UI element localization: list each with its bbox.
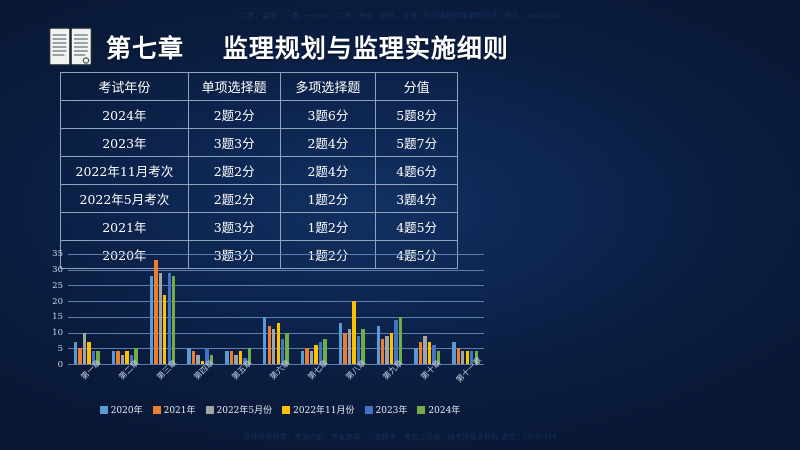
legend-item[interactable]: 2024年 xyxy=(417,403,460,416)
x-axis-tick: 第五章 xyxy=(219,366,257,400)
bar xyxy=(339,323,342,364)
x-axis-tick: 第十章 xyxy=(408,366,446,400)
bar xyxy=(168,273,171,364)
y-axis-tick-label: 25 xyxy=(52,281,63,291)
watermark-top: 二建、监理、一造、一level、二造、安全、消防、咨询、检测课程持续更新知识，微… xyxy=(0,11,800,21)
table-cell: 5题7分 xyxy=(376,129,458,157)
table-cell: 4题5分 xyxy=(376,213,458,241)
bar xyxy=(192,351,195,364)
legend-label: 2020年 xyxy=(111,403,143,416)
bar xyxy=(263,317,266,364)
table-cell: 1题2分 xyxy=(280,213,376,241)
y-axis-tick-label: 30 xyxy=(52,265,63,275)
chart-legend: 2020年2021年2022年5月份2022年11月份2023年2024年 xyxy=(60,403,500,416)
table-col-header: 考试年份 xyxy=(61,73,189,101)
y-axis-tick-label: 0 xyxy=(58,360,63,370)
table-cell: 2021年 xyxy=(61,213,189,241)
bar xyxy=(230,351,233,364)
table-cell: 3题3分 xyxy=(188,129,280,157)
bar xyxy=(343,333,346,364)
legend-swatch xyxy=(100,406,108,414)
bar-group xyxy=(144,254,182,364)
legend-item[interactable]: 2022年5月份 xyxy=(206,403,273,416)
bar xyxy=(452,342,455,364)
table-cell: 1题2分 xyxy=(280,185,376,213)
table-col-header: 多项选择题 xyxy=(280,73,376,101)
legend-item[interactable]: 2020年 xyxy=(100,403,143,416)
bar xyxy=(301,351,304,364)
legend-swatch xyxy=(153,406,161,414)
bar xyxy=(461,351,464,364)
x-axis-tick: 第三章 xyxy=(144,366,182,400)
legend-label: 2022年5月份 xyxy=(217,403,273,416)
x-axis-tick: 第十一章 xyxy=(446,366,484,400)
legend-swatch xyxy=(206,406,214,414)
table-cell: 5题8分 xyxy=(376,101,458,129)
watermark-bottom: 名师高效精学、考点内部、专业串讲、习题精考、考前三页纸、临考押题点好的 微信：1… xyxy=(0,432,800,442)
bar-group xyxy=(106,254,144,364)
bar xyxy=(310,351,313,364)
x-axis-tick: 第四章 xyxy=(181,366,219,400)
bar xyxy=(172,276,175,364)
table-row: 2021年3题3分1题2分4题5分 xyxy=(61,213,458,241)
legend-swatch xyxy=(365,406,373,414)
bar xyxy=(399,317,402,364)
x-axis-tick: 第一章 xyxy=(68,366,106,400)
page-title-text: 第七章 监理规划与监理实施细则 xyxy=(106,29,509,65)
bar xyxy=(163,295,166,364)
table-cell: 2022年5月考次 xyxy=(61,185,189,213)
table-cell: 2题2分 xyxy=(188,101,280,129)
open-book-icon xyxy=(48,26,94,68)
bar xyxy=(348,329,351,364)
exam-statistics-table: 考试年份 单项选择题 多项选择题 分值 2024年2题2分3题6分5题8分202… xyxy=(60,72,458,269)
table-cell: 2023年 xyxy=(61,129,189,157)
bar xyxy=(377,326,380,364)
bar xyxy=(83,333,86,364)
bar xyxy=(414,348,417,364)
legend-item[interactable]: 2021年 xyxy=(153,403,196,416)
bar xyxy=(268,326,271,364)
legend-label: 2021年 xyxy=(164,403,196,416)
bar xyxy=(419,342,422,364)
table-col-header: 分值 xyxy=(376,73,458,101)
bar xyxy=(381,339,384,364)
bar xyxy=(121,355,124,364)
table-cell: 2题4分 xyxy=(280,129,376,157)
bar-group xyxy=(371,254,409,364)
table-row: 2022年5月考次2题2分1题2分3题4分 xyxy=(61,185,458,213)
legend-label: 2023年 xyxy=(376,403,408,416)
table-row: 2023年3题3分2题4分5题7分 xyxy=(61,129,458,157)
table-col-header: 单项选择题 xyxy=(188,73,280,101)
bar xyxy=(457,348,460,364)
y-axis-tick-label: 35 xyxy=(52,249,63,259)
bar xyxy=(187,348,190,364)
bar xyxy=(352,301,355,364)
bar xyxy=(305,348,308,364)
table-cell: 2题4分 xyxy=(280,157,376,185)
table-cell: 2题2分 xyxy=(188,157,280,185)
bar-group xyxy=(68,254,106,364)
y-axis-tick-label: 15 xyxy=(52,312,63,322)
chart-bars xyxy=(68,254,484,364)
bar xyxy=(225,351,228,364)
page-title: 第七章 监理规划与监理实施细则 xyxy=(48,26,509,68)
table-cell: 2题2分 xyxy=(188,185,280,213)
bar-group xyxy=(446,254,484,364)
legend-swatch xyxy=(417,406,425,414)
x-axis-tick: 第二章 xyxy=(106,366,144,400)
table-header-row: 考试年份 单项选择题 多项选择题 分值 xyxy=(61,73,458,101)
table-cell: 2024年 xyxy=(61,101,189,129)
legend-label: 2024年 xyxy=(428,403,460,416)
table-cell: 2022年11月考次 xyxy=(61,157,189,185)
table-row: 2024年2题2分3题6分5题8分 xyxy=(61,101,458,129)
chart-x-axis: 第一章第二章第三章第四章第五章第六章第七章第八章第九章第十章第十一章 xyxy=(68,366,484,400)
bar xyxy=(196,355,199,364)
y-axis-tick-label: 5 xyxy=(58,344,63,354)
bar xyxy=(423,336,426,364)
table-cell: 4题6分 xyxy=(376,157,458,185)
x-axis-tick: 第八章 xyxy=(333,366,371,400)
bar xyxy=(390,333,393,364)
bar xyxy=(272,329,275,364)
bar xyxy=(159,273,162,364)
bar-group xyxy=(295,254,333,364)
bar xyxy=(112,351,115,364)
bar-group xyxy=(219,254,257,364)
bar xyxy=(116,351,119,364)
legend-swatch xyxy=(282,406,290,414)
table-cell: 3题6分 xyxy=(280,101,376,129)
bar xyxy=(150,276,153,364)
bar-group xyxy=(257,254,295,364)
x-axis-tick: 第七章 xyxy=(295,366,333,400)
bar xyxy=(234,355,237,364)
table-row: 2022年11月考次2题2分2题4分4题6分 xyxy=(61,157,458,185)
table-cell: 3题4分 xyxy=(376,185,458,213)
bar xyxy=(74,342,77,364)
legend-item[interactable]: 2022年11月份 xyxy=(282,403,354,416)
bar-group xyxy=(333,254,371,364)
chart-plot-area: 05101520253035 xyxy=(68,254,484,364)
bar-group xyxy=(181,254,219,364)
legend-label: 2022年11月份 xyxy=(293,403,354,416)
bar xyxy=(154,260,157,364)
bar xyxy=(78,348,81,364)
bar-group xyxy=(408,254,446,364)
bar xyxy=(385,336,388,364)
legend-item[interactable]: 2023年 xyxy=(365,403,408,416)
y-axis-tick-label: 20 xyxy=(52,297,63,307)
y-axis-tick-label: 10 xyxy=(52,328,63,338)
chapter-question-distribution-chart: 05101520253035 第一章第二章第三章第四章第五章第六章第七章第八章第… xyxy=(40,246,500,421)
bar xyxy=(277,323,280,364)
table-cell: 3题3分 xyxy=(188,213,280,241)
x-axis-tick: 第九章 xyxy=(371,366,409,400)
x-axis-tick: 第六章 xyxy=(257,366,295,400)
slide-canvas: 二建、监理、一造、一level、二造、安全、消防、咨询、检测课程持续更新知识，微… xyxy=(0,0,800,450)
